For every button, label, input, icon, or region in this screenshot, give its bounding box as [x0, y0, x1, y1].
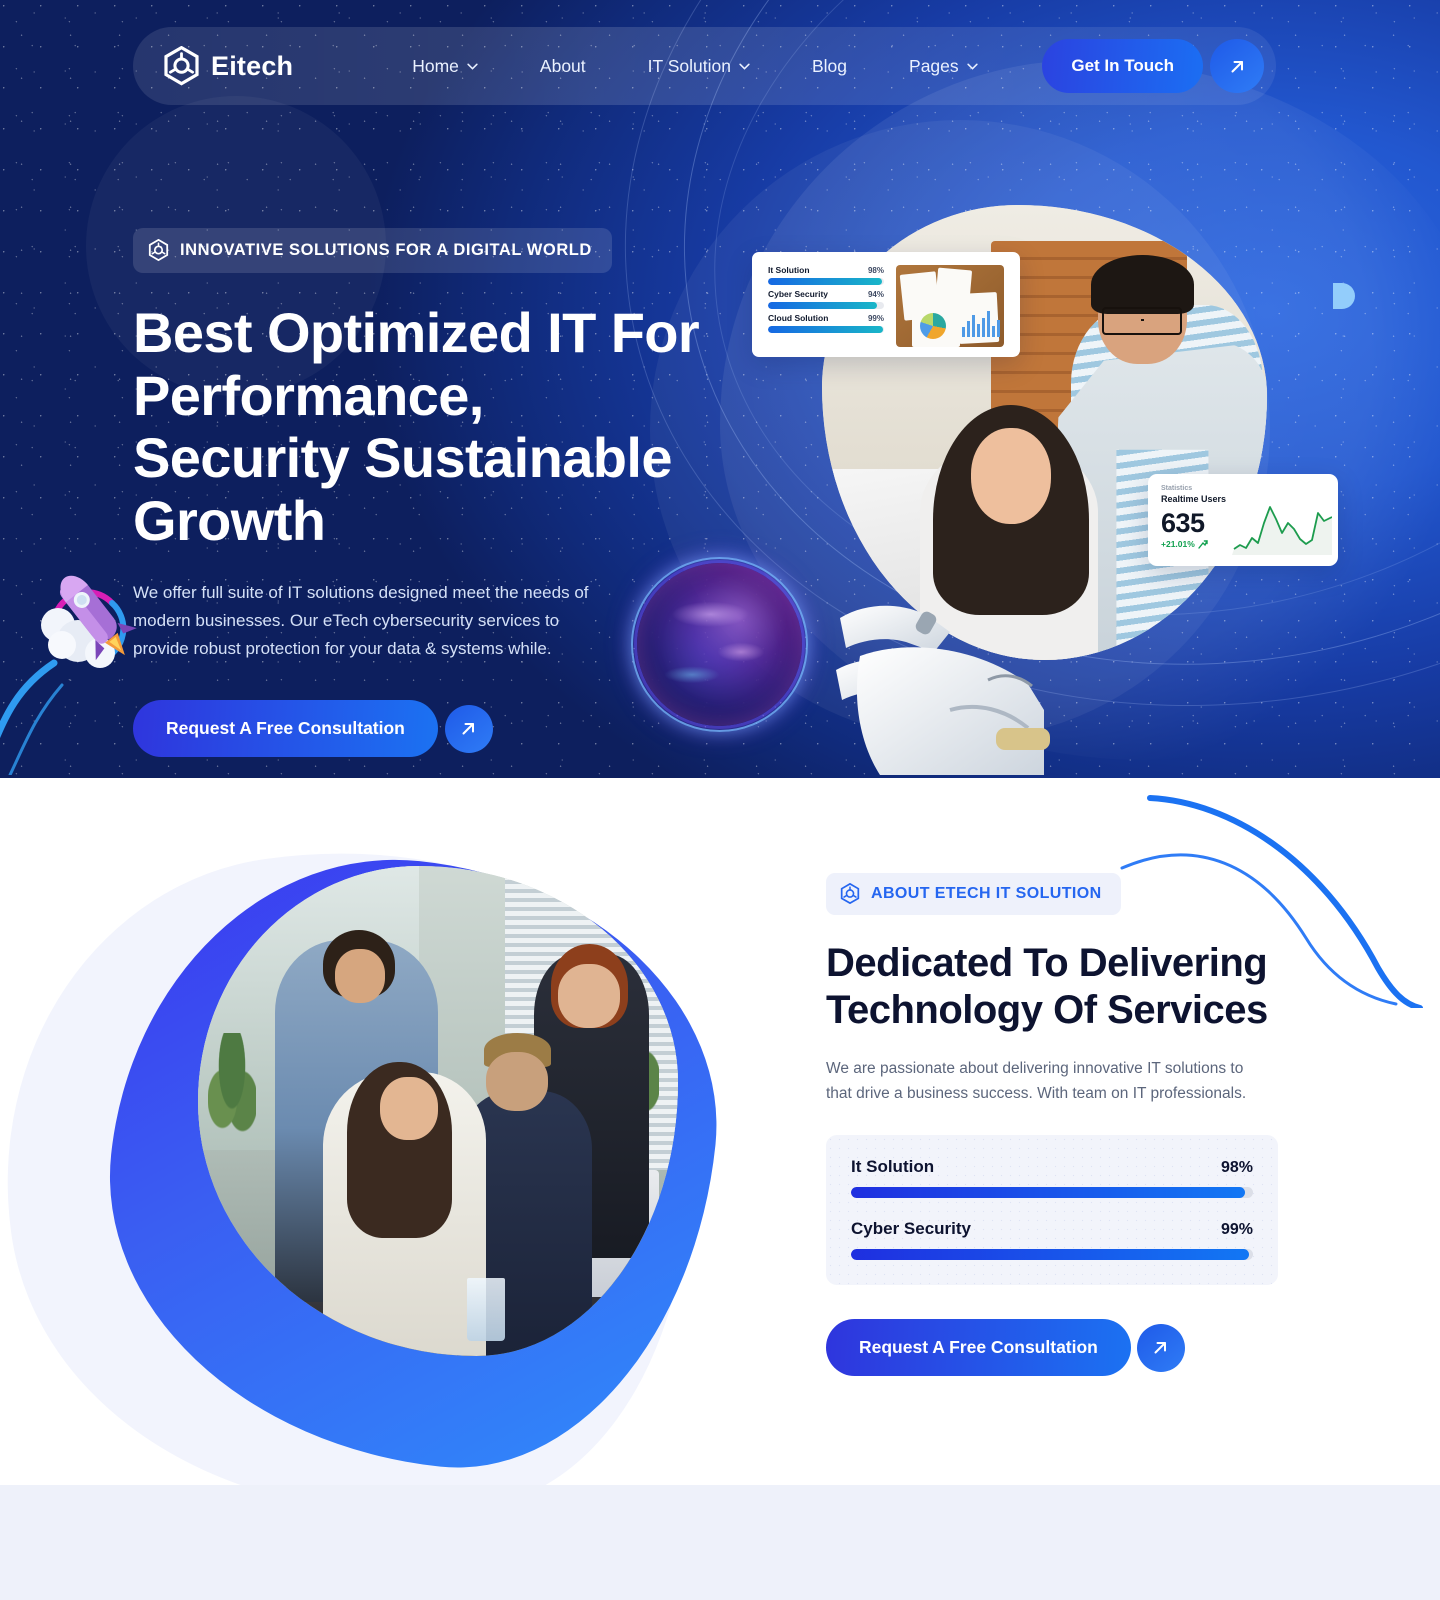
hero-badge: INNOVATIVE SOLUTIONS FOR A DIGITAL WORLD: [133, 228, 612, 273]
skill-track: [851, 1249, 1253, 1260]
moon-shape: [1333, 283, 1355, 309]
about-skills-panel: It Solution 98% Cyber Security 99%: [826, 1135, 1278, 1285]
hero-stat-row: Cloud Solution 99%: [768, 313, 884, 333]
hero-consultation-arrow-button[interactable]: [445, 705, 493, 753]
nav-cta-group: Get In Touch: [1042, 39, 1264, 93]
about-cta-group: Request A Free Consultation: [826, 1319, 1286, 1376]
about-consultation-arrow-button[interactable]: [1137, 1324, 1185, 1372]
about-heading: Dedicated To Delivering Technology Of Se…: [826, 940, 1276, 1034]
about-badge: ABOUT ETECH IT SOLUTION: [826, 873, 1121, 915]
hero-stat-value: 98%: [868, 266, 884, 275]
skill-row: It Solution 98%: [851, 1157, 1253, 1198]
nav-item-label: IT Solution: [648, 56, 731, 77]
nav-item-home[interactable]: Home: [381, 56, 509, 77]
hero-heading: Best Optimized IT For Performance, Secur…: [133, 302, 713, 553]
about-badge-label: ABOUT ETECH IT SOLUTION: [871, 885, 1102, 903]
hero-badge-label: INNOVATIVE SOLUTIONS FOR A DIGITAL WORLD: [180, 241, 592, 260]
get-in-touch-arrow-button[interactable]: [1210, 39, 1264, 93]
about-section: ABOUT ETECH IT SOLUTION Dedicated To Del…: [0, 778, 1440, 1485]
arrow-up-right-icon: [459, 719, 478, 738]
realtime-delta-text: +21.01%: [1161, 539, 1195, 549]
hero-cta-group: Request A Free Consultation: [133, 700, 733, 757]
hero-stat-label: Cyber Security: [768, 289, 828, 299]
realtime-sparkline: [1232, 485, 1332, 555]
nav-item-label: Pages: [909, 56, 959, 77]
hexagon-logo-icon: [163, 46, 200, 87]
realtime-delta: +21.01%: [1161, 539, 1226, 549]
hero-paragraph: We offer full suite of IT solutions desi…: [133, 579, 603, 663]
arrow-up-right-icon: [1151, 1338, 1170, 1357]
hero-section: It Solution 98% Cyber Security 94% Cloud…: [0, 0, 1440, 778]
about-paragraph: We are passionate about delivering innov…: [826, 1056, 1266, 1107]
skill-fill: [851, 1249, 1249, 1260]
hero-stat-row: It Solution 98%: [768, 265, 884, 285]
hero-stat-label: Cloud Solution: [768, 313, 828, 323]
hero-stats-list: It Solution 98% Cyber Security 94% Cloud…: [768, 265, 884, 347]
skill-label: It Solution: [851, 1157, 934, 1177]
chevron-down-icon: [739, 63, 750, 70]
hero-stat-value: 99%: [868, 314, 884, 323]
nav-item-it-solution[interactable]: IT Solution: [617, 56, 781, 77]
hero-consultation-button[interactable]: Request A Free Consultation: [133, 700, 438, 757]
skill-value: 99%: [1221, 1221, 1253, 1239]
hexagon-logo-icon: [148, 239, 169, 262]
hero-stat-value: 94%: [868, 290, 884, 299]
hero-stat-track: [768, 302, 884, 309]
skill-value: 98%: [1221, 1159, 1253, 1177]
hero-stat-track: [768, 326, 884, 333]
arrow-up-right-icon: [1228, 57, 1247, 76]
get-in-touch-button[interactable]: Get In Touch: [1042, 39, 1203, 93]
nav-item-label: Home: [412, 56, 459, 77]
hero-stats-card: It Solution 98% Cyber Security 94% Cloud…: [752, 252, 1020, 357]
skill-label: Cyber Security: [851, 1219, 971, 1239]
hero-content: INNOVATIVE SOLUTIONS FOR A DIGITAL WORLD…: [133, 228, 733, 757]
skill-row: Cyber Security 99%: [851, 1219, 1253, 1260]
about-content: ABOUT ETECH IT SOLUTION Dedicated To Del…: [826, 873, 1286, 1376]
brand-name: Eitech: [211, 51, 293, 82]
skill-fill: [851, 1187, 1245, 1198]
about-consultation-button[interactable]: Request A Free Consultation: [826, 1319, 1131, 1376]
chevron-down-icon: [967, 63, 978, 70]
hero-stat-label: It Solution: [768, 265, 810, 275]
about-team-photo: [198, 866, 678, 1356]
nav-links: Home About IT Solution Blog Pages: [381, 56, 1008, 77]
realtime-title: Realtime Users: [1161, 494, 1226, 504]
trend-up-icon: [1198, 540, 1208, 549]
hexagon-logo-icon: [840, 883, 860, 905]
nav-item-label: About: [540, 56, 586, 77]
nav-item-about[interactable]: About: [509, 56, 617, 77]
chevron-down-icon: [467, 63, 478, 70]
skill-track: [851, 1187, 1253, 1198]
brand-logo[interactable]: Eitech: [163, 46, 293, 87]
realtime-caption: Statistics: [1161, 485, 1226, 492]
bottom-strip: [0, 1485, 1440, 1600]
nav-item-pages[interactable]: Pages: [878, 56, 1009, 77]
main-navbar: Eitech Home About IT Solution Blog Pages: [133, 27, 1276, 105]
hero-realtime-card: Statistics Realtime Users 635 +21.01%: [1148, 474, 1338, 566]
nav-item-blog[interactable]: Blog: [781, 56, 878, 77]
realtime-value: 635: [1161, 509, 1226, 537]
hero-stat-row: Cyber Security 94%: [768, 289, 884, 309]
hero-stats-thumbnail: [896, 265, 1004, 347]
hero-stat-track: [768, 278, 884, 285]
nav-item-label: Blog: [812, 56, 847, 77]
